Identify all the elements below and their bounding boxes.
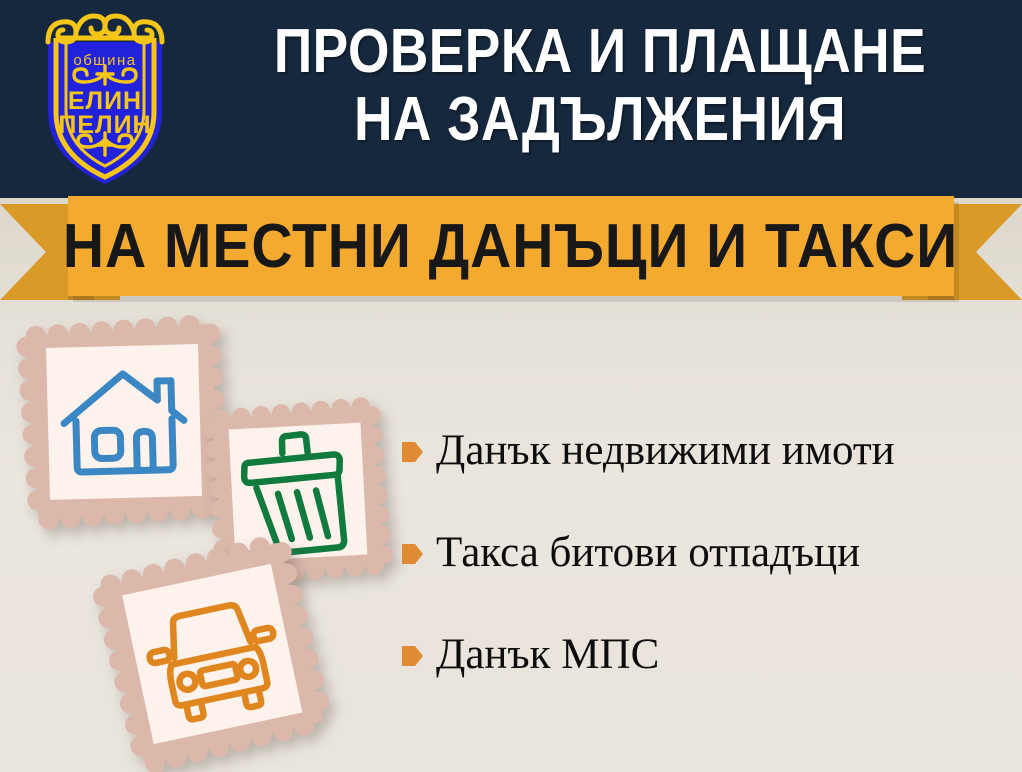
ribbon-text: НА МЕСТНИ ДАНЪЦИ И ТАКСИ [63,216,958,278]
service-list: Данък недвижими имоти Такса битови отпад… [402,425,1012,681]
arrow-bullet-icon [402,643,424,669]
coat-of-arms-icon: община ЕЛИН ПЕЛИН [26,8,184,190]
list-item-label: Данък недвижими имоти [436,425,895,477]
arrow-bullet-icon [402,541,424,567]
list-item[interactable]: Такса битови отпадъци [402,527,1012,579]
header-bar: община ЕЛИН ПЕЛИН [0,0,1022,198]
subtitle-ribbon: НА МЕСТНИ ДАНЪЦИ И ТАКСИ [0,196,1022,308]
ribbon-banner: НА МЕСТНИ ДАНЪЦИ И ТАКСИ [68,196,954,296]
arrow-bullet-icon [402,439,424,465]
list-item[interactable]: Данък МПС [402,629,1012,681]
list-item[interactable]: Данък недвижими имоти [402,425,1012,477]
municipality-coat-of-arms-logo: община ЕЛИН ПЕЛИН [26,8,184,190]
stamp-card-vehicle-tax [92,534,332,772]
page-title: ПРОВЕРКА И ПЛАЩАНЕ НА ЗАДЪЛЖЕНИЯ [247,18,952,154]
page-title-line-2: НА ЗАДЪЛЖЕНИЯ [247,86,952,154]
poster-canvas: община ЕЛИН ПЕЛИН [0,0,1022,772]
page-title-line-1: ПРОВЕРКА И ПЛАЩАНЕ [247,18,952,86]
list-item-label: Такса битови отпадъци [436,527,860,579]
list-item-label: Данък МПС [436,629,659,681]
